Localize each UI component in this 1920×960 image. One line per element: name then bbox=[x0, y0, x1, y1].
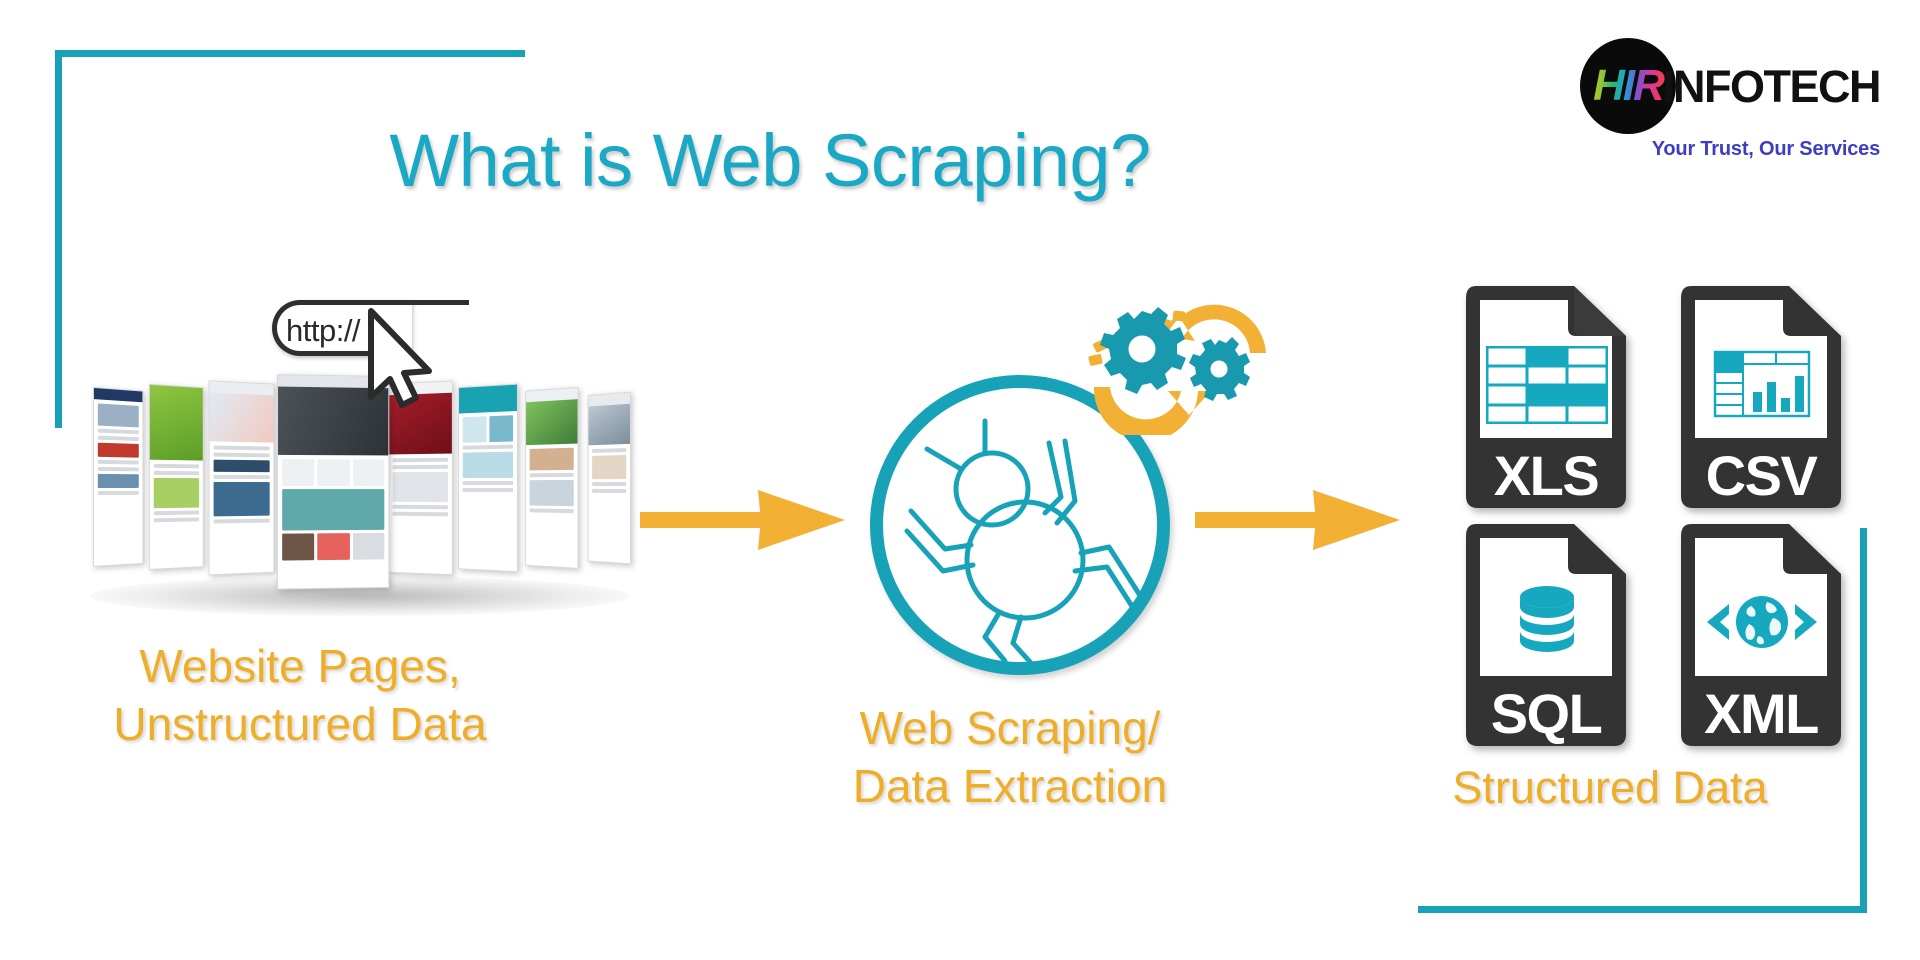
website-thumbnail bbox=[458, 384, 518, 573]
website-thumbnail bbox=[209, 380, 275, 575]
logo-wordmark: INFOTECH bbox=[1662, 64, 1880, 109]
website-thumbnail bbox=[388, 381, 453, 576]
mouse-cursor-icon bbox=[368, 308, 440, 408]
logo-row: HIR INFOTECH bbox=[1578, 38, 1888, 134]
logo-tagline: Your Trust, Our Services bbox=[1578, 138, 1888, 161]
file-label-csv: CSV bbox=[1681, 448, 1841, 504]
company-logo: HIR INFOTECH Your Trust, Our Services bbox=[1578, 38, 1888, 168]
database-cylinder-icon bbox=[1486, 584, 1608, 662]
file-label-xml: XML bbox=[1681, 686, 1841, 742]
file-card-xls[interactable]: XLS bbox=[1466, 286, 1626, 508]
bar-chart-table-icon bbox=[1701, 346, 1823, 424]
output-file-formats: XLS bbox=[1466, 286, 1866, 748]
website-thumbnail bbox=[93, 387, 143, 567]
website-thumbnail bbox=[525, 387, 578, 569]
spreadsheet-table-icon bbox=[1486, 346, 1608, 424]
file-card-xml[interactable]: XML bbox=[1681, 524, 1841, 746]
website-pages-illustration bbox=[70, 380, 650, 630]
source-label-line-2: Unstructured Data bbox=[30, 696, 570, 754]
corner-bracket-bottom-right-horizontal bbox=[1418, 906, 1867, 913]
process-stage-label: Web Scraping/ Data Extraction bbox=[700, 700, 1320, 816]
url-address-bar-top-extension bbox=[404, 300, 469, 305]
flow-arrow-1-icon bbox=[640, 490, 845, 550]
page-title: What is Web Scraping? bbox=[0, 118, 1540, 203]
file-label-sql: SQL bbox=[1466, 686, 1626, 742]
website-page-fan bbox=[70, 380, 650, 592]
corner-bracket-top-left-vertical bbox=[55, 50, 62, 428]
process-label-line-1: Web Scraping/ bbox=[700, 700, 1320, 758]
corner-bracket-top-left-horizontal bbox=[55, 50, 525, 57]
infographic-canvas: What is Web Scraping? HIR INFOTECH Your … bbox=[0, 0, 1920, 960]
source-label-line-1: Website Pages, bbox=[30, 638, 570, 696]
gears-process-icon bbox=[1080, 295, 1280, 435]
file-card-sql[interactable]: SQL bbox=[1466, 524, 1626, 746]
process-label-line-2: Data Extraction bbox=[700, 758, 1320, 816]
website-thumbnail bbox=[588, 392, 631, 565]
source-stage-label: Website Pages, Unstructured Data bbox=[30, 638, 570, 754]
flow-arrow-2-icon bbox=[1195, 490, 1400, 550]
url-text: http:// bbox=[286, 313, 360, 349]
output-stage-label: Structured Data bbox=[1400, 760, 1820, 817]
logo-mark-label: HIR bbox=[1591, 61, 1665, 111]
angle-brackets-globe-icon bbox=[1701, 584, 1823, 662]
file-label-xls: XLS bbox=[1466, 448, 1626, 504]
website-thumbnail bbox=[149, 384, 204, 570]
file-card-csv[interactable]: CSV bbox=[1681, 286, 1841, 508]
